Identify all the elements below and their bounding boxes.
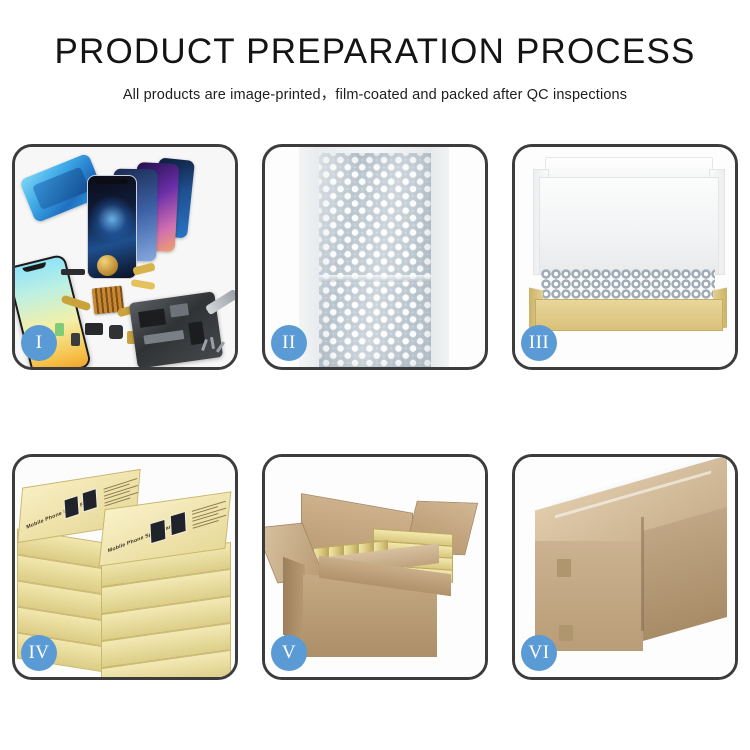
step-badge-1: I	[21, 325, 57, 361]
screws-icon	[201, 337, 227, 355]
step-badge-5: V	[271, 635, 307, 671]
spare-part-bar	[61, 269, 85, 275]
page-title: PRODUCT PREPARATION PROCESS	[0, 34, 750, 71]
step-badge-4: IV	[21, 635, 57, 671]
process-step-grid: I II III	[12, 144, 738, 680]
vibration-motor-part	[109, 325, 123, 339]
small-part-2	[71, 333, 80, 346]
step-badge-3: III	[521, 325, 557, 361]
carton-vertical-edge	[641, 517, 644, 631]
step-badge-6: VI	[521, 635, 557, 671]
panel-products: I	[12, 144, 238, 370]
panel-carton-open: V	[262, 454, 488, 680]
box-thumbnail-1	[64, 495, 80, 520]
panel-inner-box: III	[512, 144, 738, 370]
header: PRODUCT PREPARATION PROCESS All products…	[0, 0, 750, 104]
carton-right-face	[643, 507, 727, 641]
box-lid-face	[539, 177, 719, 275]
page-subtitle: All products are image-printed，film-coat…	[0, 83, 750, 104]
speaker-part	[85, 323, 103, 335]
camera-module-icon	[97, 255, 118, 276]
bubble-wrapped-contents	[541, 269, 715, 303]
carton-side	[283, 557, 305, 643]
box-thumbnail-4	[170, 511, 187, 537]
box-thumbnail-2	[82, 488, 98, 513]
small-part-1	[55, 323, 64, 336]
box-thumbnail-3	[149, 519, 166, 545]
box-tray-front	[535, 299, 723, 331]
panel-box-stack: Mobile Phone Spare Parts Mobile Phone Sp…	[12, 454, 238, 680]
box-spec-lines-2	[192, 501, 227, 531]
carton-mark-1	[557, 559, 571, 577]
panel-carton-sealed: VI	[512, 454, 738, 680]
carton-mark-2	[559, 625, 573, 641]
product-preparation-infographic: PRODUCT PREPARATION PROCESS All products…	[0, 0, 750, 750]
carton-front-face	[535, 541, 643, 651]
step-badge-2: II	[271, 325, 307, 361]
bubble-wrap-gloss	[319, 153, 431, 367]
panel-bubble-wrap: II	[262, 144, 488, 370]
